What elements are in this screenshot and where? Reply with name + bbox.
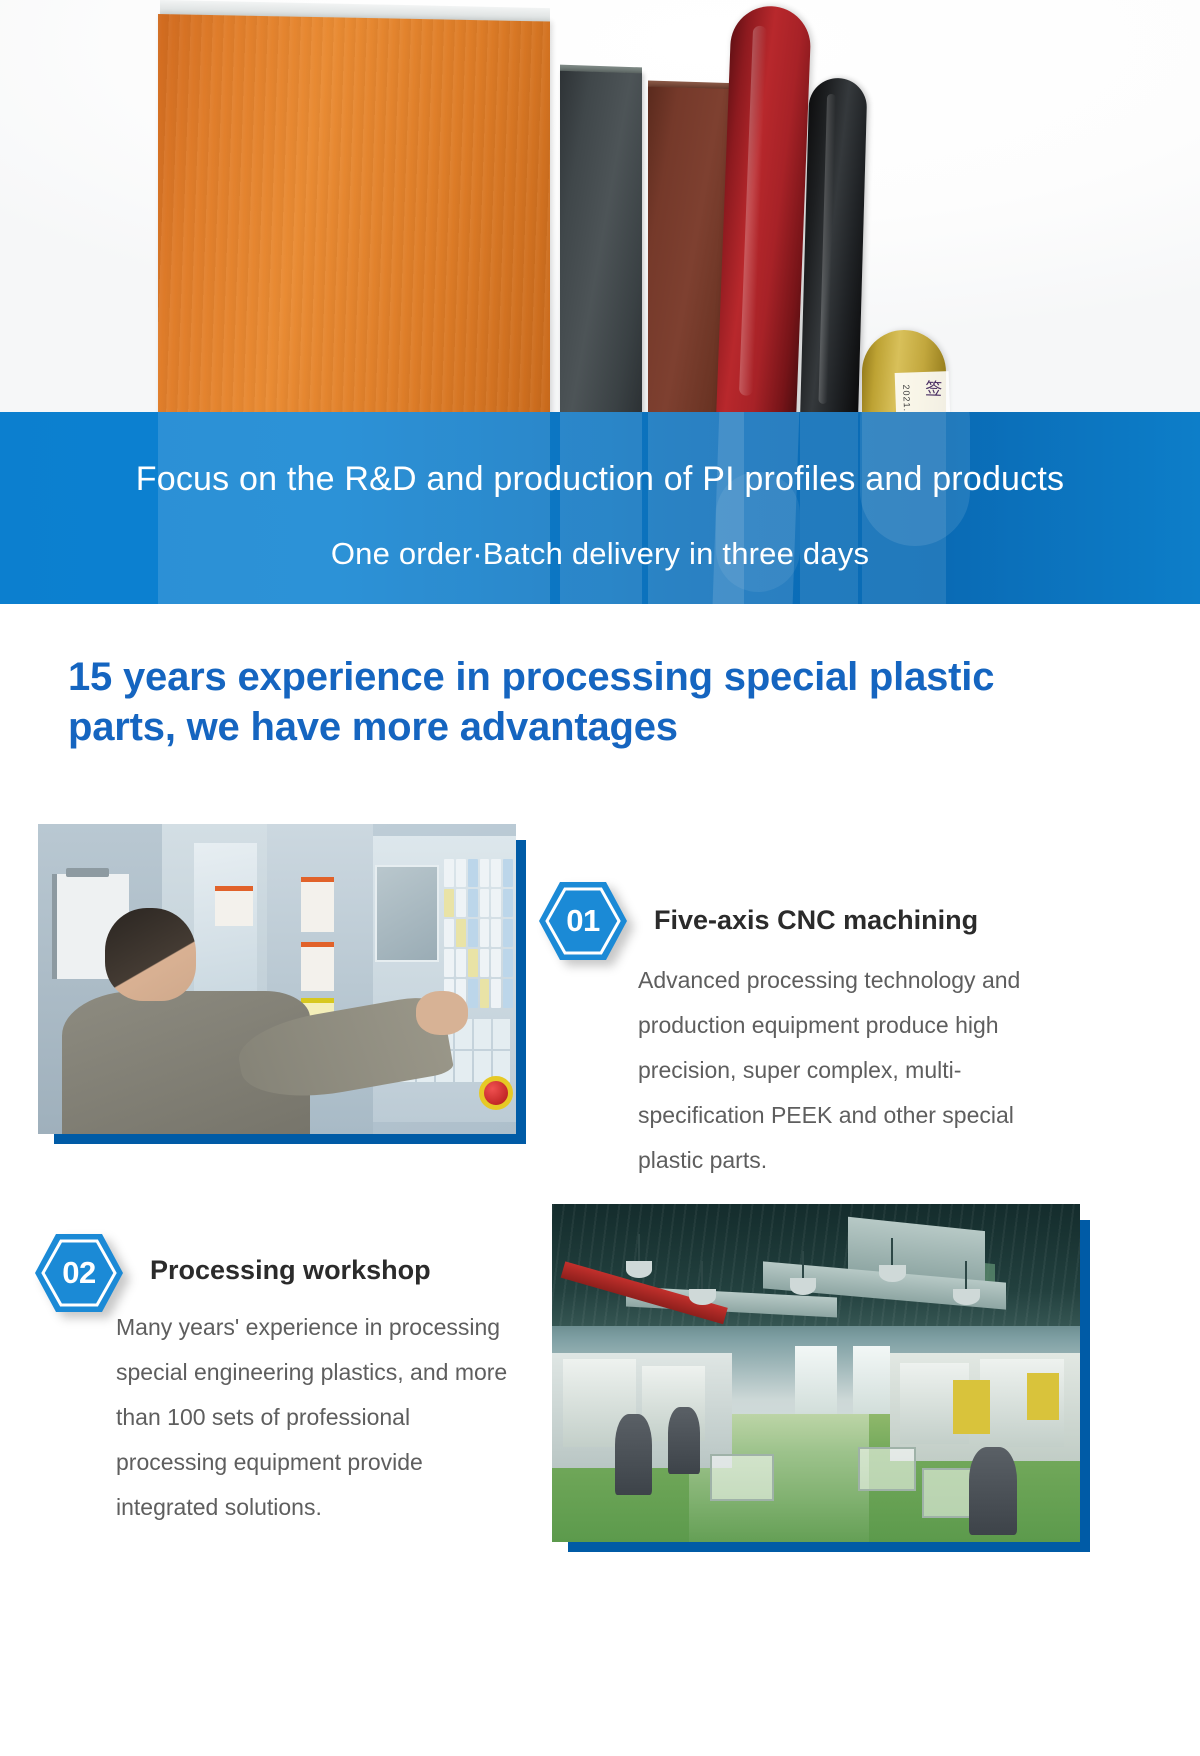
material-cart (858, 1447, 916, 1491)
workshop-window (853, 1346, 890, 1420)
workshop-worker (969, 1447, 1017, 1535)
feature-02-image-frame (552, 1204, 1080, 1542)
frame-shadow-right (1080, 1220, 1090, 1552)
cnc-keypad (444, 859, 513, 1007)
workshop-window (795, 1346, 837, 1420)
tagline-banner: Focus on the R&D and production of PI pr… (0, 412, 1200, 604)
workshop-worker (615, 1414, 652, 1495)
feature-01-photo (38, 824, 516, 1134)
frame-shadow-bottom (54, 1134, 526, 1144)
feature-01-title: Five-axis CNC machining (654, 905, 978, 936)
frame-shadow-bottom (568, 1542, 1090, 1552)
hero-product-photo: 2021.03.05 签 (0, 0, 1200, 420)
pendant-lamp (879, 1265, 905, 1282)
orange-phenolic-sheet (158, 14, 550, 420)
section-heading: 15 years experience in processing specia… (68, 652, 1078, 752)
emergency-stop-button (479, 1076, 513, 1110)
hero-backdrop: 2021.03.05 签 (0, 0, 1200, 420)
yellow-machine (1027, 1373, 1059, 1420)
banner-headline-primary: Focus on the R&D and production of PI pr… (0, 412, 1200, 496)
cnc-scene (38, 824, 516, 1134)
red-plastic-rod (716, 5, 812, 420)
feature-01-number: 01 (537, 880, 629, 962)
workshop-worker (668, 1407, 700, 1475)
worker-hand (416, 991, 469, 1034)
rod-label-scribble: 签 (919, 379, 945, 398)
cnc-warning-label (215, 886, 253, 926)
feature-01-number-badge: 01 (537, 880, 629, 962)
black-plastic-rod (800, 77, 868, 420)
product-landing-page: 2021.03.05 签 Focus on the R&D and produc… (0, 0, 1200, 1756)
workshop-scene (552, 1204, 1080, 1542)
feature-02-photo (552, 1204, 1080, 1542)
yellow-machine (953, 1380, 990, 1434)
cnc-warning-label (301, 942, 334, 992)
worker-head (105, 908, 196, 1001)
cnc-screen (375, 865, 438, 962)
cnc-warning-label (301, 877, 334, 933)
frame-shadow-right (516, 840, 526, 1144)
feature-02-body: Many years' experience in processing spe… (116, 1305, 516, 1530)
feature-02-number: 02 (33, 1232, 125, 1314)
banner-headline-secondary: One order·Batch delivery in three days (0, 496, 1200, 569)
feature-01-body: Advanced processing technology and produ… (638, 958, 1068, 1183)
feature-02-number-badge: 02 (33, 1232, 125, 1314)
material-cart (710, 1454, 773, 1501)
feature-02-title: Processing workshop (150, 1255, 431, 1286)
feature-01-image-frame (38, 824, 516, 1134)
grey-plastic-sheet (560, 71, 642, 420)
